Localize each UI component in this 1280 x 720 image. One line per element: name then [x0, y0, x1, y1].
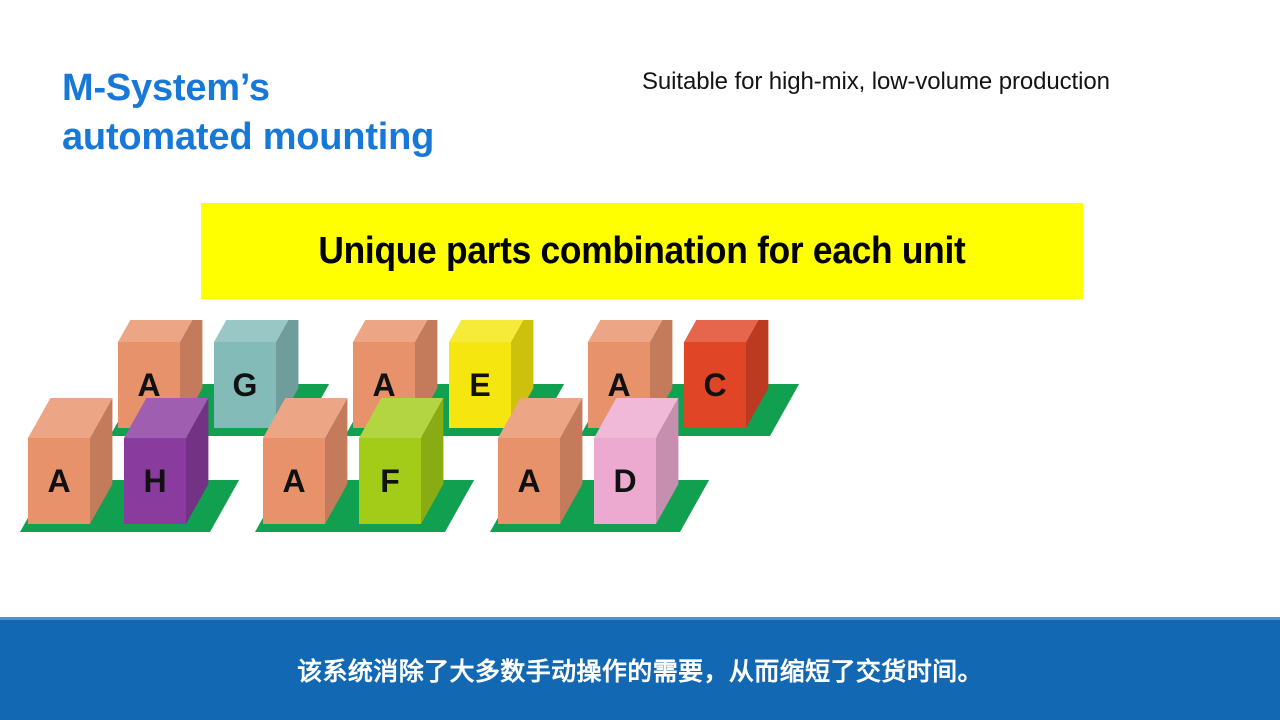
unit-2-back-block-e-label: E [469, 367, 490, 403]
unit-1-back-block-a-label: A [137, 367, 160, 403]
parts-combination-diagram: AGAHAEAFACAD [0, 320, 1280, 560]
unit-3-front-block-a-label: A [517, 463, 540, 499]
unit-2-front-block-f: F [359, 398, 443, 524]
unit-2-front-block-a: A [263, 398, 347, 524]
unit-1-front-block-a: A [28, 398, 112, 524]
unit-2-front-block-f-label: F [380, 463, 400, 499]
highlight-banner: Unique parts combination for each unit [201, 203, 1083, 299]
unit-1-front-block-h-label: H [143, 463, 166, 499]
unit-3: ACAD [490, 320, 799, 532]
caption-text: 该系统消除了大多数手动操作的需要，从而缩短了交货时间。 [297, 652, 983, 688]
unit-2-front-block-a-label: A [282, 463, 305, 499]
unit-2-back-block-a-label: A [372, 367, 395, 403]
unit-1-front-block-h: H [124, 398, 208, 524]
unit-3-front-block-a: A [498, 398, 582, 524]
unit-3-back-block-a-label: A [607, 367, 630, 403]
diagram-canvas: AGAHAEAFACAD [0, 320, 1280, 560]
unit-1-back-block-g-label: G [233, 367, 258, 403]
unit-1-front-block-a-label: A [47, 463, 70, 499]
presentation-slide: M-System’s automated mounting Suitable f… [0, 0, 1280, 720]
page-title: M-System’s automated mounting [62, 64, 622, 161]
unit-3-front-block-d: D [594, 398, 678, 524]
unit-3-back-block-c-label: C [703, 367, 726, 403]
slide-subtitle: Suitable for high-mix, low-volume produc… [642, 68, 1110, 96]
caption-bar: 该系统消除了大多数手动操作的需要，从而缩短了交货时间。 [0, 617, 1280, 720]
highlight-banner-text: Unique parts combination for each unit [318, 230, 965, 273]
unit-3-front-block-d-label: D [613, 463, 636, 499]
